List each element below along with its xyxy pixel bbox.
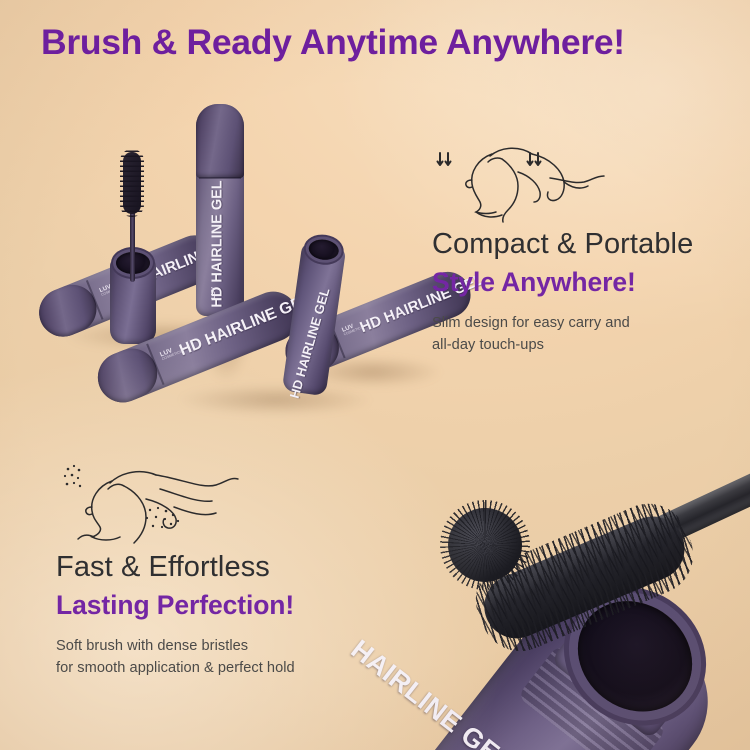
feature-body-line: Slim design for easy carry and [432, 312, 732, 334]
feature-block-compact: Compact & Portable Style Anywhere! Slim … [432, 132, 732, 357]
sparkle-dots-lower-icon [144, 505, 186, 535]
brand-mark: LUV [211, 287, 217, 299]
feature-body: Slim design for easy carry and all-day t… [432, 312, 732, 356]
feature-title: Compact & Portable [432, 228, 732, 260]
down-arrows-left-icon [434, 150, 456, 172]
down-arrows-right-icon [524, 150, 546, 172]
brush-bristles [123, 152, 141, 214]
mini-brush-applicator [120, 148, 146, 298]
tube-seam [199, 177, 241, 179]
woman-profile-smooth-hair-icon [432, 132, 732, 228]
sparkle-dots-upper-icon [60, 463, 94, 497]
feature-subtitle: Style Anywhere! [432, 267, 732, 299]
woman-profile-sparkle-hair-icon [56, 455, 386, 551]
hero-product-open-tube: HAIRLINE GEL [360, 438, 750, 750]
feature-block-fast: Fast & Effortless Lasting Perfection! So… [56, 455, 386, 680]
feature-body-line: Soft brush with dense bristles [56, 635, 386, 657]
feature-body-line: all-day touch-ups [432, 334, 732, 356]
feature-body: Soft brush with dense bristles for smoot… [56, 635, 386, 679]
tube-cap [196, 104, 244, 178]
page-title: Brush & Ready Anytime Anywhere! [41, 22, 731, 63]
hero-brush-wand [434, 444, 750, 654]
feature-title: Fast & Effortless [56, 551, 386, 583]
feature-body-line: for smooth application & perfect hold [56, 657, 386, 679]
wand-tip-bristles [448, 508, 522, 582]
feature-subtitle: Lasting Perfection! [56, 590, 386, 622]
tube-standing: HD HAIRLINE GEL LUV [196, 104, 244, 316]
poster-canvas: LUV COSMETICS HD HAIRLINE GEL HD HAIRLIN… [0, 0, 750, 750]
